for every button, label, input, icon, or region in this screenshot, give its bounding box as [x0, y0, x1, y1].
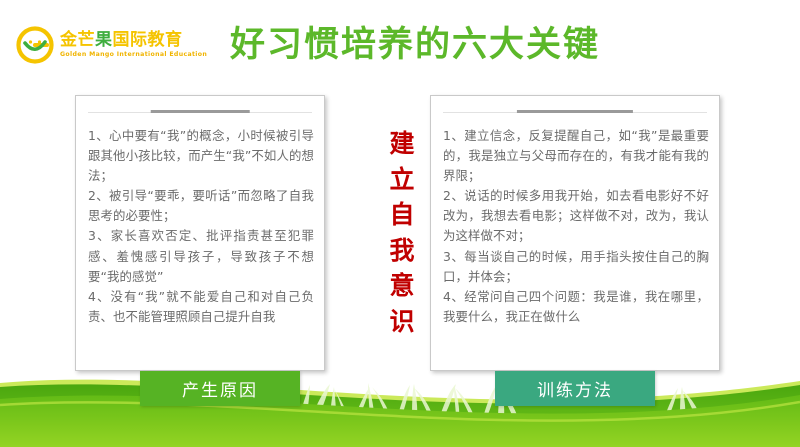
right-panel-body: 1、建立信念，反复提醒自己，如“我”是最重要的，我是独立与父母而存在的，有我才能… [431, 114, 719, 335]
left-content-panel: 1、心中要有“我”的概念，小时候被引导跟其他小孩比较，而产生“我”不如人的想法；… [75, 95, 325, 371]
right-panel-item-2: 2、说话的时候多用我开始，如去看电影好不好改为，我想去看电影；这样做不对，改为，… [443, 186, 709, 246]
divider-center-bar [517, 110, 633, 113]
vertical-title-char-3: 自 [380, 197, 424, 233]
vertical-title-char-6: 识 [380, 304, 424, 340]
vertical-title-char-2: 立 [380, 162, 424, 198]
divider-center-bar [151, 110, 250, 113]
page-title: 好习惯培养的六大关键 [205, 24, 625, 68]
left-panel-item-1: 1、心中要有“我”的概念，小时候被引导跟其他小孩比较，而产生“我”不如人的想法； [88, 126, 314, 186]
vertical-title-char-4: 我 [380, 233, 424, 269]
right-panel-tag[interactable]: 训练方法 [495, 371, 655, 406]
left-panel-item-4: 4、没有“我”就不能爱自己和对自己负责、也不能管理照顾自己提升自我 [88, 287, 314, 327]
left-panel-tag-label: 产生原因 [182, 376, 258, 401]
brand-name-en: Golden Mango International Education [60, 51, 207, 58]
left-panel-item-3: 3、家长喜欢否定、批评指责甚至犯罪感、羞愧感引导孩子，导致孩子不想要“我的感觉” [88, 226, 314, 286]
right-panel-item-1: 1、建立信念，反复提醒自己，如“我”是最重要的，我是独立与父母而存在的，有我才能… [443, 126, 709, 186]
brand-name-cn: 金芒果国际教育 [60, 32, 207, 50]
slide-canvas: 金芒果国际教育 Golden Mango International Educa… [0, 0, 800, 447]
mango-circle-logo-icon [14, 24, 56, 66]
center-vertical-title: 建 立 自 我 意 识 [380, 126, 424, 339]
right-content-panel: 1、建立信念，反复提醒自己，如“我”是最重要的，我是独立与父母而存在的，有我才能… [430, 95, 720, 371]
right-panel-item-3: 3、每当谈自己的时候，用手指头按住自己的胸口，并体会； [443, 247, 709, 287]
brand-logo-text: 金芒果国际教育 Golden Mango International Educa… [60, 32, 207, 59]
brand-name-cn-accent: 果 [95, 30, 113, 50]
right-panel-item-4: 4、经常问自己四个问题：我是谁，我在哪里，我要什么，我正在做什么 [443, 287, 709, 327]
left-panel-item-2: 2、被引导“要乖，要听话”而忽略了自我思考的必要性； [88, 186, 314, 226]
brand-logo: 金芒果国际教育 Golden Mango International Educa… [14, 24, 207, 66]
brand-name-cn-prefix: 金芒 [60, 30, 95, 50]
slide-header: 金芒果国际教育 Golden Mango International Educa… [0, 0, 800, 92]
left-panel-divider [88, 110, 312, 114]
left-panel-body: 1、心中要有“我”的概念，小时候被引导跟其他小孩比较，而产生“我”不如人的想法；… [76, 114, 324, 335]
left-panel-tag[interactable]: 产生原因 [140, 371, 300, 406]
right-panel-divider [443, 110, 707, 114]
brand-name-cn-suffix: 国际教育 [113, 30, 183, 50]
right-panel-tag-label: 训练方法 [537, 376, 613, 401]
footer-scenery [0, 369, 800, 447]
vertical-title-char-5: 意 [380, 268, 424, 304]
vertical-title-char-1: 建 [380, 126, 424, 162]
